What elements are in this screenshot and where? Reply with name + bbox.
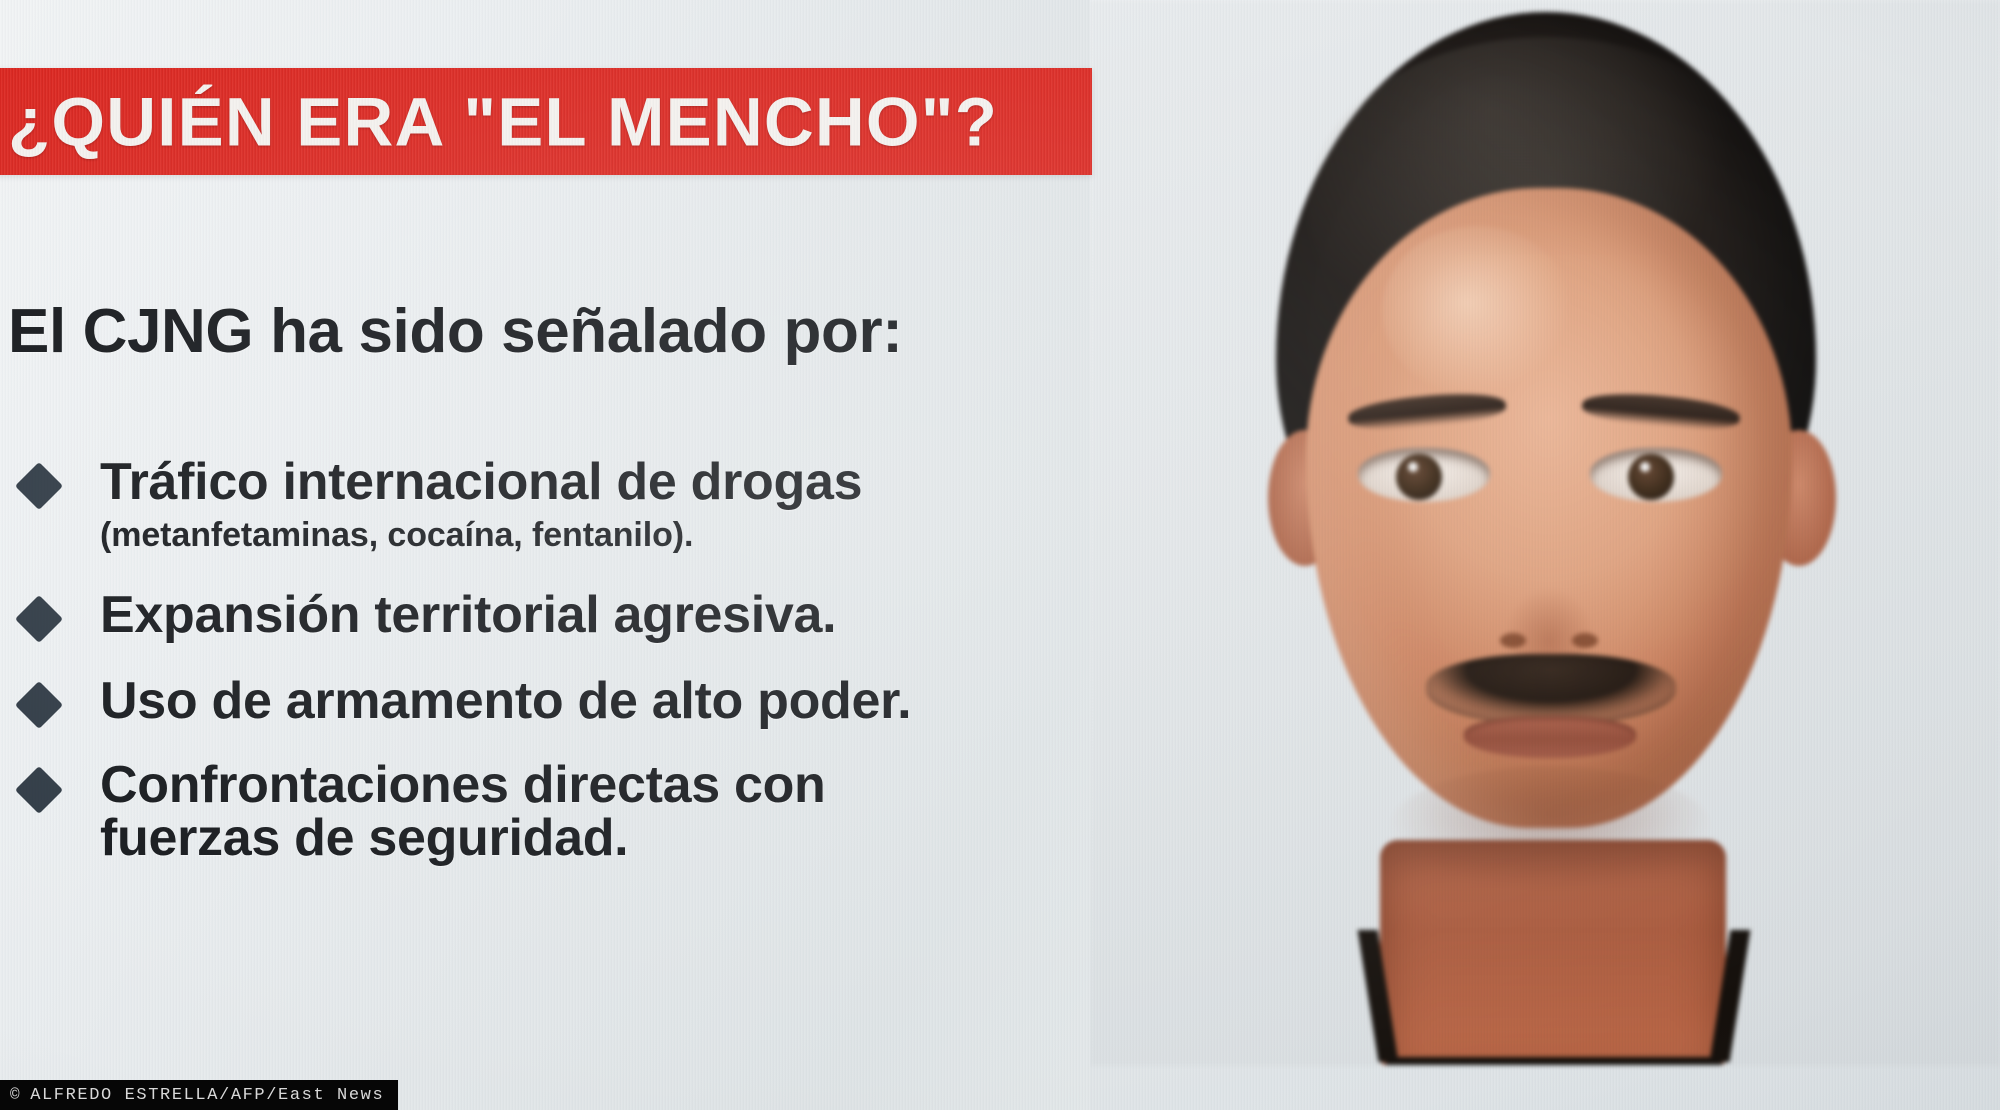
portrait-forehead-highlight <box>1382 226 1572 396</box>
bullet-main-line-2: fuerzas de seguridad. <box>100 812 1088 865</box>
headline-text: ¿QUIÉN ERA "EL MENCHO"? <box>8 87 998 156</box>
portrait-nostril-left <box>1500 633 1526 648</box>
portrait-iris-right <box>1628 454 1674 500</box>
bullet-main-text: Uso de armamento de alto poder. <box>100 674 1088 730</box>
portrait-panel <box>1090 0 2000 1110</box>
portrait-bottom-edge <box>1386 1057 1722 1065</box>
diamond-bullet-icon <box>15 462 63 510</box>
list-item: Confrontaciones directas con fuerzas de … <box>8 759 1088 865</box>
portrait-eye-right <box>1590 448 1722 502</box>
portrait-iris-left <box>1396 454 1442 500</box>
photo-credit-bar: © ALFREDO ESTRELLA/AFP/East News <box>0 1080 398 1110</box>
portrait-eye-left <box>1358 448 1490 502</box>
portrait-chin-shadow <box>1390 766 1710 890</box>
bullet-main-text: Confrontaciones directas con fuerzas de … <box>100 759 1088 865</box>
photo-credit-text: ALFREDO ESTRELLA/AFP/East News <box>30 1086 384 1105</box>
portrait-collar <box>1358 930 1750 1065</box>
bullet-main-text: Tráfico internacional de drogas <box>100 455 1088 511</box>
diamond-bullet-icon <box>15 766 63 814</box>
portrait-photo <box>1090 0 2000 1065</box>
bullet-main-text: Expansión territorial agresiva. <box>100 588 1088 644</box>
list-item: Tráfico internacional de drogas (metanfe… <box>8 455 1088 554</box>
bullet-main-line-1: Confrontaciones directas con <box>100 756 826 814</box>
diamond-bullet-icon <box>15 595 63 643</box>
lead-in-text: El CJNG ha sido señalado por: <box>8 296 902 367</box>
copyright-icon: © <box>10 1086 21 1104</box>
bullet-sub-text: (metanfetaminas, cocaína, fentanilo). <box>100 517 1088 554</box>
infographic-screen: ¿QUIÉN ERA "EL MENCHO"? El CJNG ha sido … <box>0 0 2000 1110</box>
list-item: Uso de armamento de alto poder. <box>8 674 1088 730</box>
portrait-nose <box>1488 486 1610 662</box>
portrait-mouth <box>1464 716 1636 758</box>
portrait-nostril-right <box>1572 633 1598 648</box>
bullet-list: Tráfico internacional de drogas (metanfe… <box>8 455 1088 865</box>
headline-banner: ¿QUIÉN ERA "EL MENCHO"? <box>0 68 1092 175</box>
diamond-bullet-icon <box>15 681 63 729</box>
list-item: Expansión territorial agresiva. <box>8 588 1088 644</box>
